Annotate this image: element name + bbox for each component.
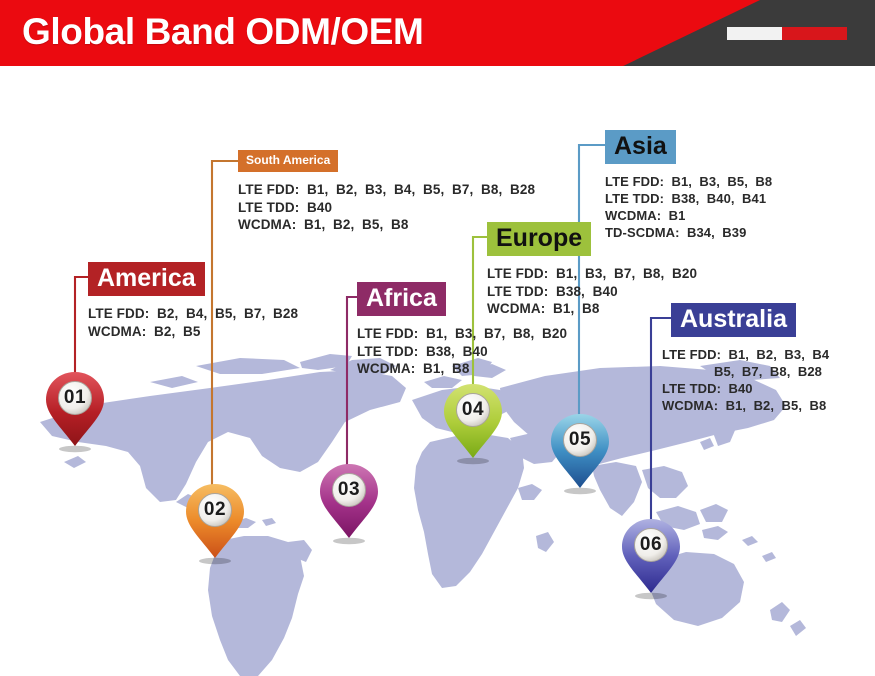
connector-africa: [347, 297, 357, 478]
map-pin-05[interactable]: 05: [549, 412, 611, 496]
region-bands-africa: LTE FDD: B1, B3, B7, B8, B20 LTE TDD: B3…: [357, 325, 567, 378]
region-bands-america: LTE FDD: B2, B4, B5, B7, B28 WCDMA: B2, …: [88, 305, 298, 340]
region-label-asia: Asia: [605, 130, 676, 164]
region-bands-asia: LTE FDD: B1, B3, B5, B8 LTE TDD: B38, B4…: [605, 173, 772, 241]
region-label-africa: Africa: [357, 282, 446, 316]
region-bands-europe: LTE FDD: B1, B3, B7, B8, B20 LTE TDD: B3…: [487, 265, 697, 318]
region-bands-australia: LTE FDD: B1, B2, B3, B4 B5, B7, B8, B28 …: [662, 346, 829, 414]
map-pin-04[interactable]: 04: [442, 382, 504, 466]
map-pin-01[interactable]: 01: [44, 370, 106, 454]
region-label-south-america: South America: [238, 150, 338, 172]
region-asia: Asia LTE FDD: B1, B3, B5, B8 LTE TDD: B3…: [605, 130, 772, 241]
map-pin-03[interactable]: 03: [318, 462, 380, 546]
region-label-europe: Europe: [487, 222, 591, 256]
slide-canvas: Global Band ODM/OEM: [0, 0, 875, 676]
map-pin-02[interactable]: 02: [184, 482, 246, 566]
map-pin-06[interactable]: 06: [620, 517, 682, 601]
region-label-america: America: [88, 262, 205, 296]
region-label-australia: Australia: [671, 303, 796, 337]
region-america: America LTE FDD: B2, B4, B5, B7, B28 WCD…: [88, 262, 298, 340]
region-australia: Australia LTE FDD: B1, B2, B3, B4 B5, B7…: [671, 303, 829, 414]
